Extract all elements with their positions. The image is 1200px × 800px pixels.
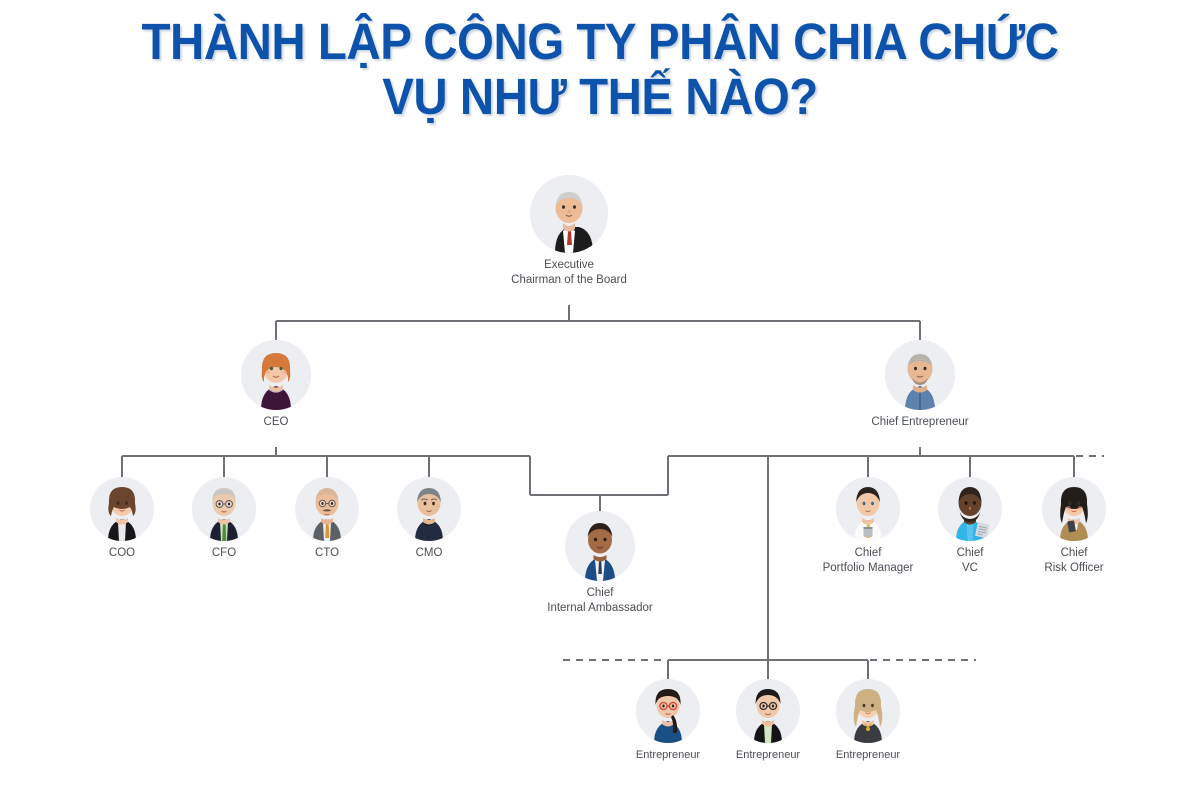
cto-avatar-art (295, 477, 359, 541)
chief-entrepreneur-label: Chief Entrepreneur (850, 415, 990, 430)
chief-entrepreneur-avatar (885, 340, 955, 410)
cfo-avatar-art (192, 477, 256, 541)
coo-label: COO (72, 546, 172, 561)
entrepreneur-2-avatar-art (736, 679, 800, 743)
node-chief-portfolio-manager[interactable]: Chief Portfolio Manager (798, 477, 938, 575)
node-chief-entrepreneur[interactable]: Chief Entrepreneur (850, 340, 990, 430)
cmo-avatar (397, 477, 461, 541)
chief-portfolio-manager-avatar-art (836, 477, 900, 541)
cfo-avatar (192, 477, 256, 541)
node-cmo[interactable]: CMO (379, 477, 479, 561)
node-chief-vc[interactable]: Chief VC (920, 477, 1020, 575)
chief-vc-label: Chief VC (920, 546, 1020, 575)
node-entrepreneur-3[interactable]: Entrepreneur (818, 679, 918, 763)
chief-entrepreneur-avatar-art (885, 340, 955, 410)
node-coo[interactable]: COO (72, 477, 172, 561)
entrepreneur-3-avatar-art (836, 679, 900, 743)
chief-vc-avatar-art (938, 477, 1002, 541)
entrepreneur-2-label: Entrepreneur (718, 748, 818, 763)
ceo-avatar (241, 340, 311, 410)
chairman-avatar-art (530, 175, 608, 253)
org-chart-root: THÀNH LẬP CÔNG TY PHÂN CHIA CHỨC VỤ NHƯ … (0, 0, 1200, 800)
node-chairman[interactable]: Executive Chairman of the Board (489, 175, 649, 287)
chief-risk-officer-label: Chief Risk Officer (1014, 546, 1134, 575)
chief-internal-ambassador-avatar (565, 511, 635, 581)
chief-risk-officer-avatar (1042, 477, 1106, 541)
entrepreneur-3-avatar (836, 679, 900, 743)
chief-internal-ambassador-label: Chief Internal Ambassador (520, 586, 680, 615)
chief-portfolio-manager-avatar (836, 477, 900, 541)
chairman-avatar (530, 175, 608, 253)
coo-avatar (90, 477, 154, 541)
entrepreneur-1-avatar (636, 679, 700, 743)
entrepreneur-2-avatar (736, 679, 800, 743)
cfo-label: CFO (174, 546, 274, 561)
node-cfo[interactable]: CFO (174, 477, 274, 561)
node-entrepreneur-1[interactable]: Entrepreneur (618, 679, 718, 763)
ceo-avatar-art (241, 340, 311, 410)
connector-lines (0, 0, 1200, 800)
chief-vc-avatar (938, 477, 1002, 541)
cto-label: CTO (277, 546, 377, 561)
chairman-label: Executive Chairman of the Board (489, 258, 649, 287)
chief-risk-officer-avatar-art (1042, 477, 1106, 541)
entrepreneur-3-label: Entrepreneur (818, 748, 918, 763)
cmo-label: CMO (379, 546, 479, 561)
node-cto[interactable]: CTO (277, 477, 377, 561)
node-chief-internal-ambassador[interactable]: Chief Internal Ambassador (520, 511, 680, 615)
node-ceo[interactable]: CEO (206, 340, 346, 430)
cmo-avatar-art (397, 477, 461, 541)
entrepreneur-1-avatar-art (636, 679, 700, 743)
chief-portfolio-manager-label: Chief Portfolio Manager (798, 546, 938, 575)
cto-avatar (295, 477, 359, 541)
node-chief-risk-officer[interactable]: Chief Risk Officer (1014, 477, 1134, 575)
node-entrepreneur-2[interactable]: Entrepreneur (718, 679, 818, 763)
entrepreneur-1-label: Entrepreneur (618, 748, 718, 763)
ceo-label: CEO (206, 415, 346, 430)
coo-avatar-art (90, 477, 154, 541)
chief-internal-ambassador-avatar-art (565, 511, 635, 581)
